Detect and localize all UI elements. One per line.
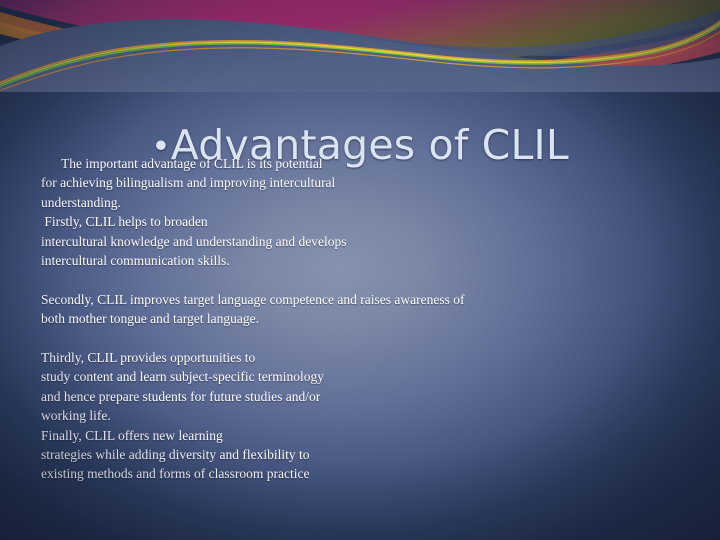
text-line: study content and learn subject-specific… — [41, 367, 681, 386]
text-line: Firstly, CLIL helps to broaden — [41, 212, 681, 231]
paragraph-thirdly: Thirdly, CLIL provides opportunities to … — [41, 348, 681, 426]
paragraph-finally: Finally, CLIL offers new learning strate… — [41, 426, 681, 484]
text-line: Finally, CLIL offers new learning — [41, 426, 681, 445]
wave-band-magenta-fill — [0, 0, 720, 63]
paragraph-potential: The important advantage of CLIL is its p… — [41, 154, 681, 212]
text-line: working life. — [41, 406, 681, 425]
text-line: and hence prepare students for future st… — [41, 387, 681, 406]
text-line: intercultural communication skills. — [41, 251, 681, 270]
text-line: intercultural knowledge and understandin… — [41, 232, 681, 251]
wave-line-yellow — [0, 20, 720, 87]
paragraph-secondly: Secondly, CLIL improves target language … — [41, 290, 681, 329]
wave-band-crimson — [0, 12, 720, 83]
text-line: understanding. — [41, 193, 681, 212]
text-line: for achieving bilingualism and improving… — [41, 173, 681, 192]
wave-band-slate-sliver — [350, 10, 720, 56]
wave-band-slate — [0, 19, 720, 92]
wave-line-orange — [0, 18, 720, 84]
wave-line-green — [0, 21, 720, 88]
slide-body-text: The important advantage of CLIL is its p… — [41, 154, 681, 484]
text-line: The important advantage of CLIL is its p… — [41, 154, 681, 173]
text-line: Thirdly, CLIL provides opportunities to — [41, 348, 681, 367]
text-line: both mother tongue and target language. — [41, 309, 681, 328]
header-wave-ribbon — [0, 0, 720, 92]
wave-band-magenta — [0, 0, 720, 52]
text-line: Secondly, CLIL improves target language … — [41, 290, 681, 309]
wave-line-orange-secondary — [0, 25, 720, 92]
wave-band-orange — [0, 22, 720, 88]
text-line: strategies while adding diversity and fl… — [41, 445, 681, 464]
text-line: existing methods and forms of classroom … — [41, 464, 681, 483]
presentation-slide: •Advantages of CLIL The important advant… — [0, 0, 720, 540]
paragraph-firstly: Firstly, CLIL helps to broaden intercult… — [41, 212, 681, 270]
